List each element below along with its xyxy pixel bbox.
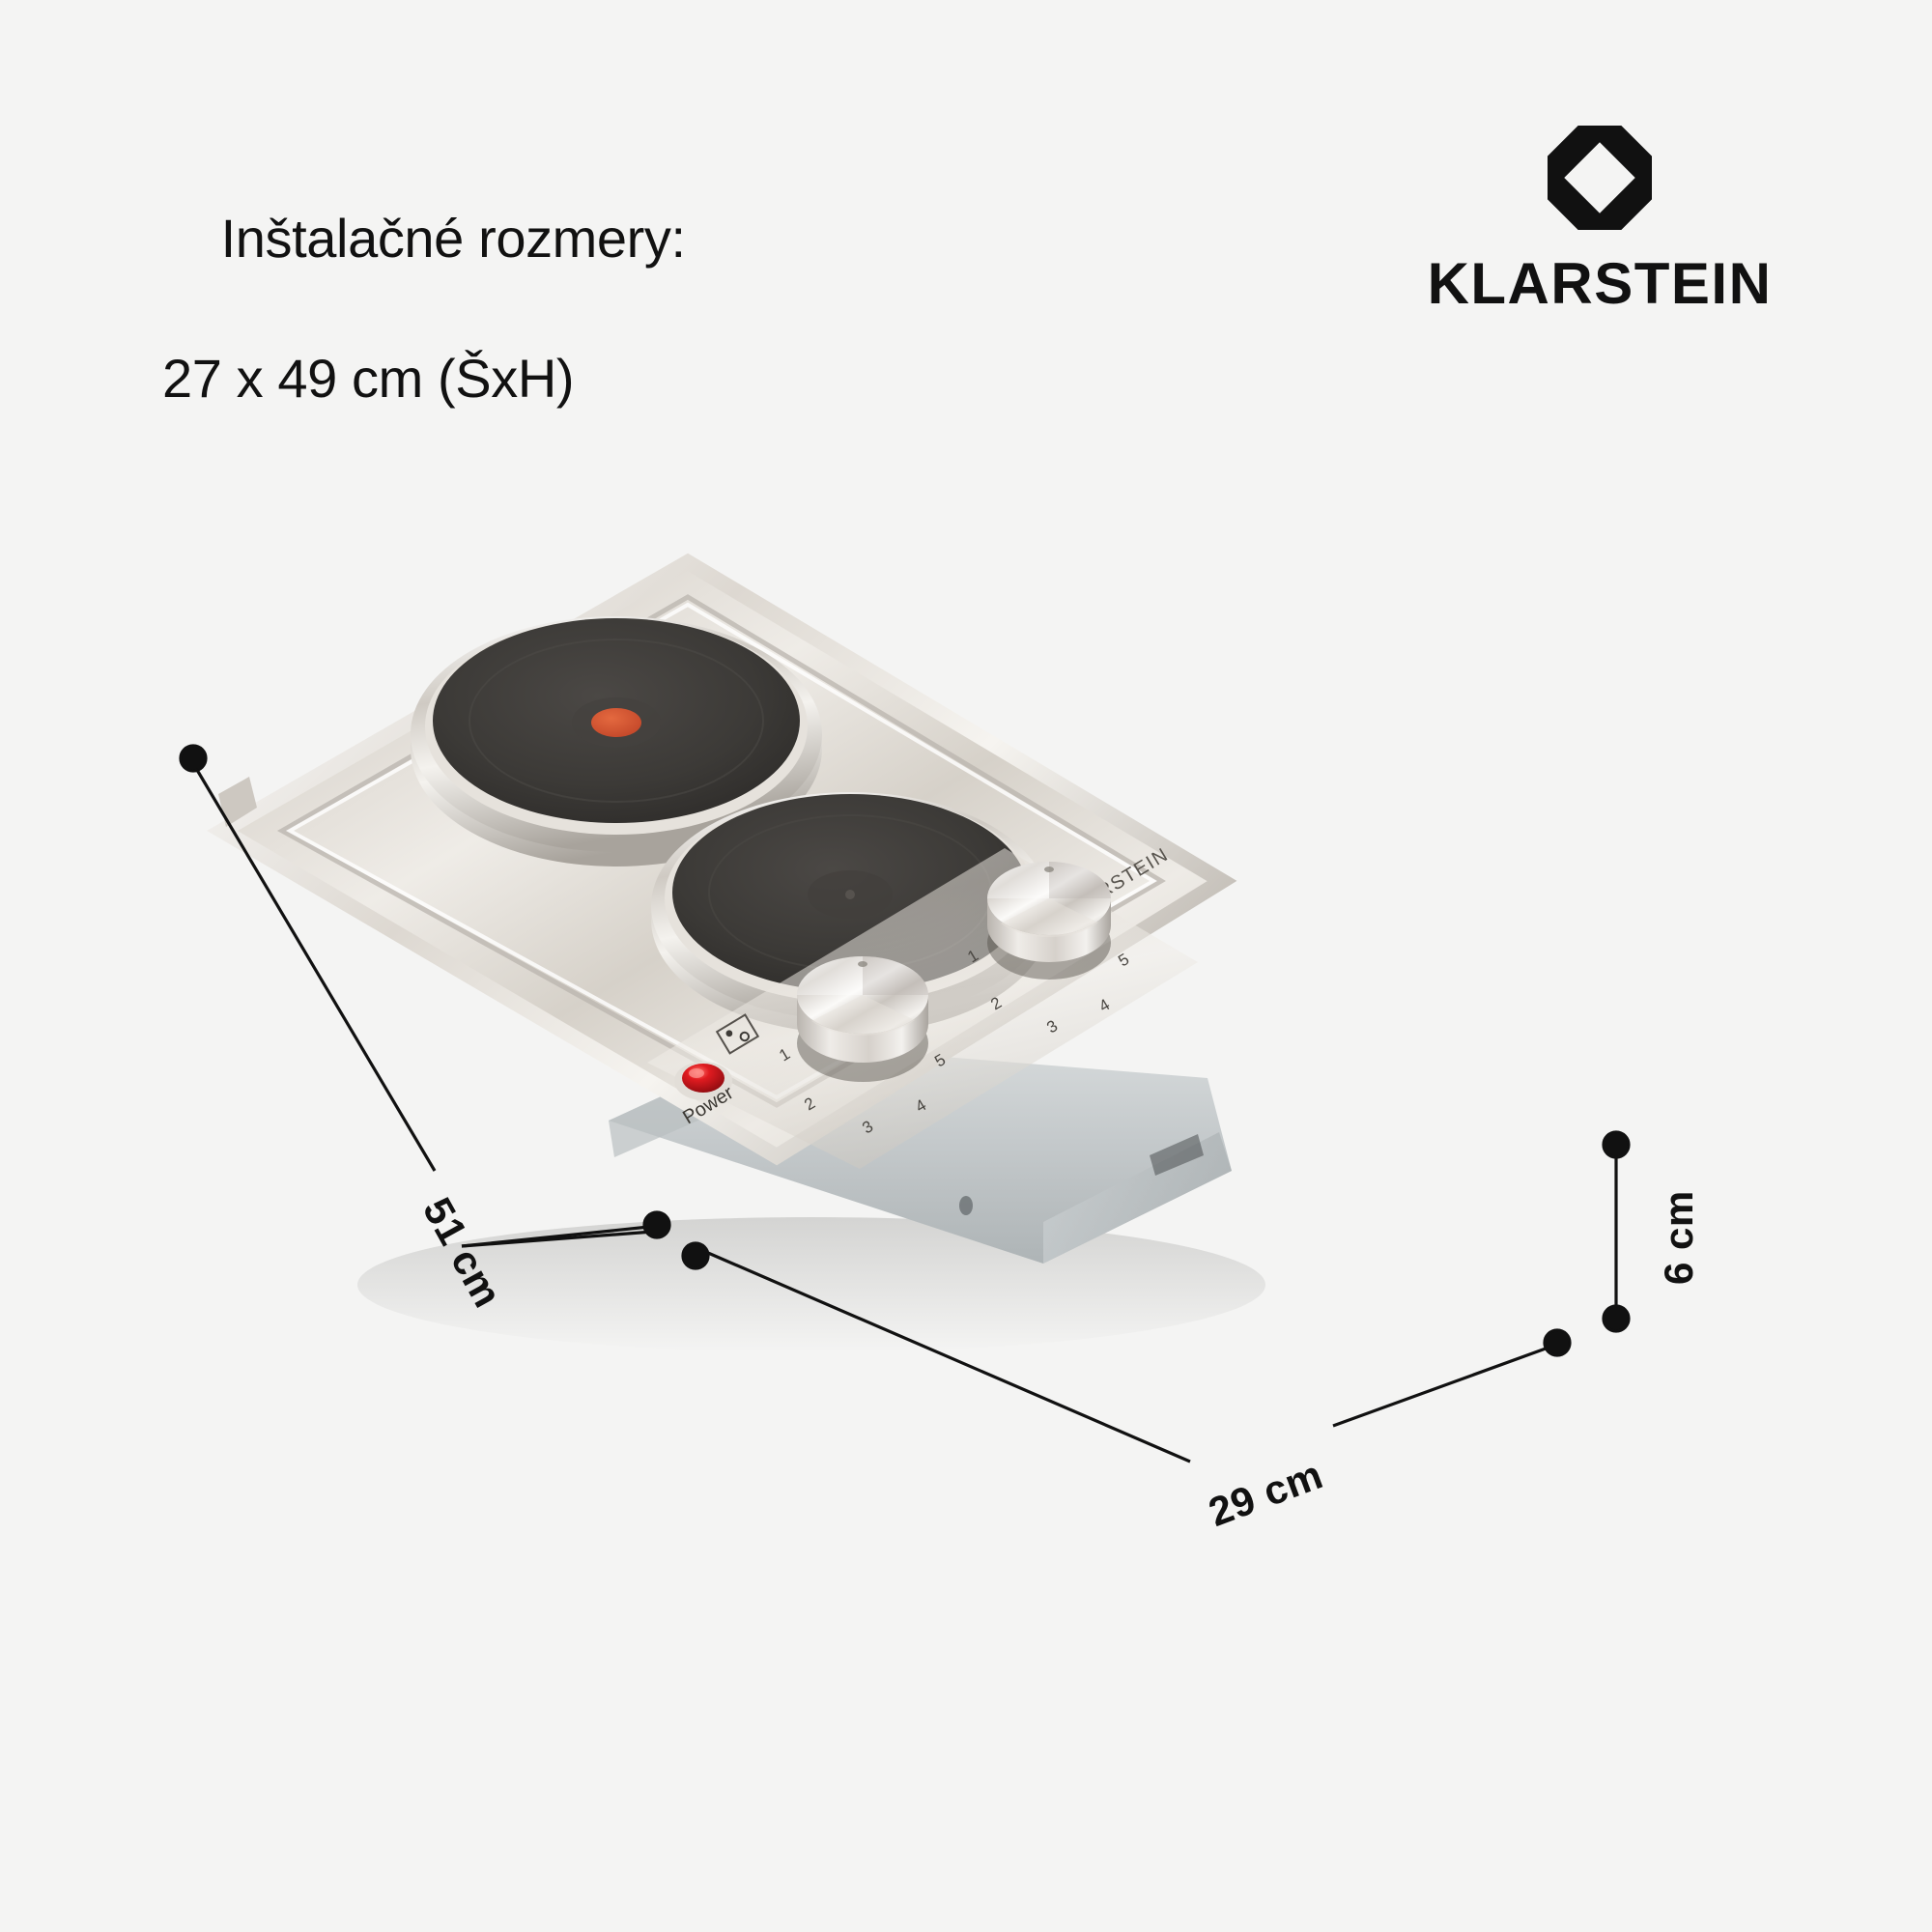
image-canvas: Inštalačné rozmery: 27 x 49 cm (ŠxH) KLA… bbox=[0, 0, 1932, 1932]
octagon-diamond-icon bbox=[1548, 126, 1652, 230]
right-control-knob bbox=[987, 862, 1111, 980]
left-control-knob bbox=[797, 956, 928, 1082]
brand-wordmark: KLARSTEIN bbox=[1426, 255, 1774, 313]
rear-plate-center-indicator bbox=[591, 708, 641, 737]
brand-logo: KLARSTEIN bbox=[1426, 126, 1774, 313]
heading-line-2: 27 x 49 cm (ŠxH) bbox=[162, 344, 686, 414]
heading-line-1: Inštalačné rozmery: bbox=[221, 208, 686, 269]
product-image: 1 2 3 4 5 1 2 3 4 5 bbox=[193, 541, 1507, 1391]
dimension-label-width: 29 cm bbox=[1203, 1451, 1329, 1536]
dimension-label-height: 6 cm bbox=[1656, 1190, 1702, 1285]
page-title: Inštalačné rozmery: 27 x 49 cm (ŠxH) bbox=[162, 133, 686, 555]
